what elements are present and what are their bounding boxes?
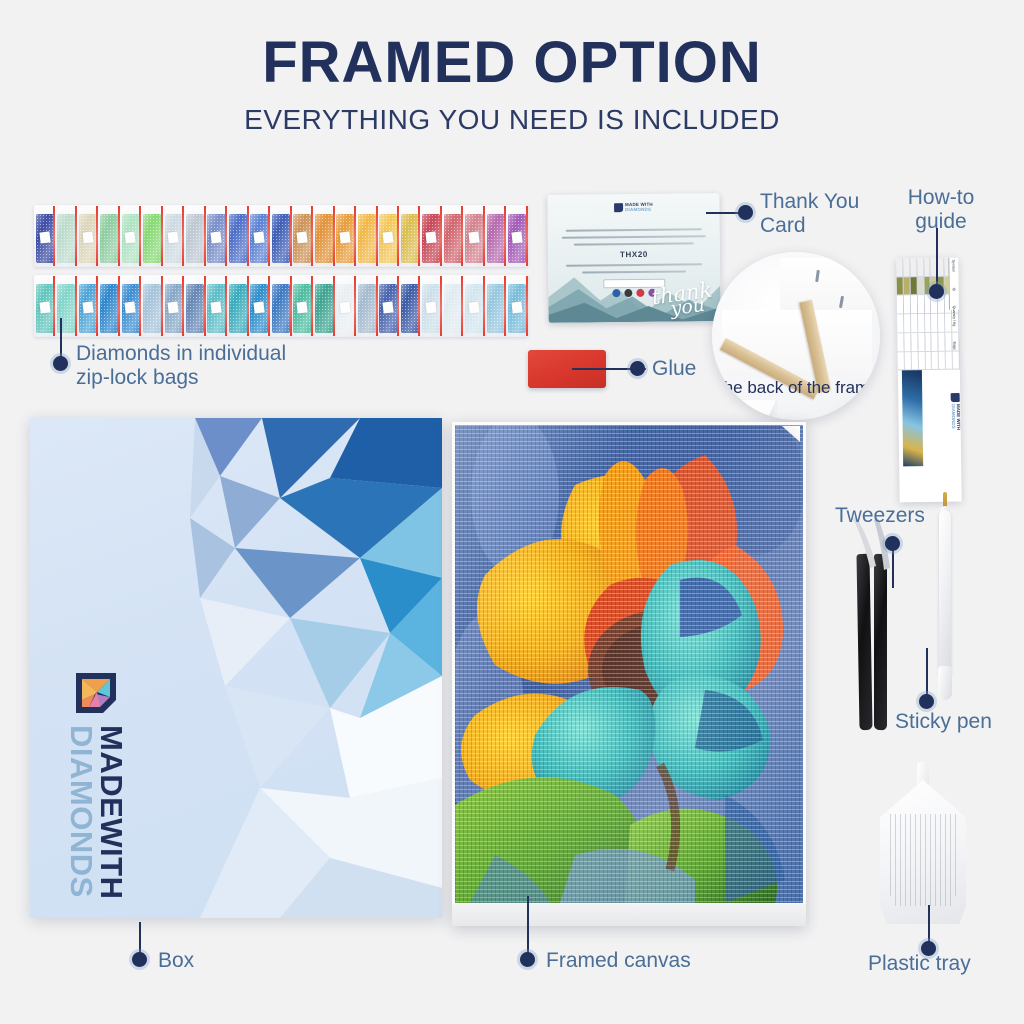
diamond-bag <box>120 205 141 267</box>
diamond-bag <box>227 205 248 267</box>
diamond-bag <box>249 205 270 267</box>
diamond-bag <box>399 275 420 337</box>
bag-sheen <box>270 205 291 267</box>
diamond-bag <box>506 275 527 337</box>
bag-sheen <box>55 205 76 267</box>
pen-body <box>939 510 951 678</box>
bubble-caption: The back of the frame <box>712 378 880 398</box>
bag-sheen <box>120 275 141 337</box>
diamonds-callout-dot[interactable] <box>53 356 68 371</box>
pen-callout-dot[interactable] <box>919 694 934 709</box>
sticky-pen <box>932 492 958 700</box>
diamond-bag <box>313 275 334 337</box>
bag-sheen <box>249 275 270 337</box>
diamond-bag <box>420 275 441 337</box>
box-logo: MADEWITH DIAMONDS <box>67 670 127 899</box>
diamond-bag <box>206 275 227 337</box>
bag-sheen <box>270 275 291 337</box>
canvas-leader-line <box>527 896 529 954</box>
callout-label-framed-canvas: Framed canvas <box>546 949 691 973</box>
bag-sheen <box>313 205 334 267</box>
diamond-bag <box>463 205 484 267</box>
diamond-bag <box>249 275 270 337</box>
callout-label-diamonds: Diamonds in individual zip-lock bags <box>76 342 346 390</box>
bag-sheen <box>77 205 98 267</box>
diamond-bag <box>506 205 527 267</box>
diamond-bag <box>55 275 76 337</box>
diamond-bag <box>292 275 313 337</box>
card-logo: MADE WITH DIAMONDS <box>614 203 653 213</box>
diamond-bag <box>463 275 484 337</box>
bag-sheen <box>163 275 184 337</box>
guide-artwork-thumbnail <box>902 370 923 466</box>
bag-sheen <box>184 205 205 267</box>
card-logo-mark-icon <box>614 203 623 212</box>
diamond-bag <box>184 275 205 337</box>
diamond-bag <box>399 205 420 267</box>
diamond-bag <box>120 275 141 337</box>
diamond-bag <box>442 275 463 337</box>
diamond-bags-group <box>34 205 528 337</box>
frame-back-panel-top <box>780 258 878 314</box>
callout-label-glue: Glue <box>652 357 696 381</box>
bag-sheen <box>506 205 527 267</box>
bag-sheen <box>335 205 356 267</box>
canvas-artwork <box>455 425 803 903</box>
guide-col-qty: Quantity / Kg <box>952 306 956 327</box>
diamond-bag <box>335 275 356 337</box>
diamond-bag <box>98 275 119 337</box>
bag-sheen <box>98 205 119 267</box>
bag-sheen <box>506 275 527 337</box>
box-leader-line <box>139 922 141 954</box>
canvas-callout-dot[interactable] <box>520 952 535 967</box>
bag-sheen <box>335 275 356 337</box>
guide-logo: MADE WITHDIAMONDS <box>950 393 960 430</box>
tweezers-leader-line <box>892 548 894 588</box>
diamond-bag <box>77 205 98 267</box>
pen-foot <box>938 666 952 700</box>
tweezers <box>850 530 906 730</box>
guide-col-symbol: Symbol <box>951 260 955 272</box>
diamond-bag <box>313 205 334 267</box>
diamond-bag <box>163 205 184 267</box>
bag-sheen <box>206 205 227 267</box>
diamond-bag <box>163 275 184 337</box>
bag-sheen <box>227 205 248 267</box>
guide-color-chart: Symbol ID Quantity / Kg Bags <box>896 258 960 371</box>
box-logo-mark-icon <box>73 670 119 716</box>
tiktok-icon <box>624 289 632 297</box>
bag-sheen <box>98 275 119 337</box>
bag-sheen <box>249 205 270 267</box>
infographic-root: FRAMED OPTION EVERYTHING YOU NEED IS INC… <box>0 0 1024 1024</box>
bag-sheen <box>141 275 162 337</box>
box-callout-dot[interactable] <box>132 952 147 967</box>
facebook-icon <box>612 289 620 297</box>
diamond-bag <box>141 205 162 267</box>
diamond-bag <box>141 275 162 337</box>
diamond-bag-row-2 <box>34 275 528 337</box>
bag-sheen <box>292 275 313 337</box>
artwork-sheen <box>455 425 803 903</box>
diamonds-leader-line <box>60 318 62 358</box>
diamond-bag <box>206 205 227 267</box>
card-thank-you-script: thank you <box>651 282 715 320</box>
thankyou-leader-line <box>706 212 742 214</box>
diamond-bag <box>442 205 463 267</box>
diamond-bag <box>55 205 76 267</box>
bag-sheen <box>485 275 506 337</box>
callout-label-box: Box <box>158 949 194 973</box>
bag-sheen <box>463 205 484 267</box>
diamond-bag <box>184 205 205 267</box>
bag-sheen <box>34 275 55 337</box>
box-logo-text: MADEWITH DIAMONDS <box>67 725 127 899</box>
diamond-bag <box>270 275 291 337</box>
bag-sheen <box>420 275 441 337</box>
diamond-bag <box>270 205 291 267</box>
bag-sheen <box>184 275 205 337</box>
bag-sheen <box>163 205 184 267</box>
page-subtitle: EVERYTHING YOU NEED IS INCLUDED <box>0 106 1024 134</box>
bag-sheen <box>356 275 377 337</box>
canvas-frame-bottom-edge <box>452 904 806 926</box>
guide-col-id: ID <box>952 288 956 292</box>
bag-sheen <box>399 205 420 267</box>
bag-sheen <box>420 205 441 267</box>
callout-label-thank-you-card: Thank You Card <box>760 190 900 238</box>
card-social-icons <box>612 289 656 297</box>
diamond-bag <box>356 275 377 337</box>
howto-callout-dot[interactable] <box>929 284 944 299</box>
card-logo-text: MADE WITH DIAMONDS <box>625 203 653 213</box>
bag-sheen <box>206 275 227 337</box>
thank-you-card: MADE WITH DIAMONDS THX20 thank you <box>547 193 720 323</box>
bag-sheen <box>313 275 334 337</box>
bag-sheen <box>141 205 162 267</box>
tweezers-callout-dot[interactable] <box>885 536 900 551</box>
diamond-bag <box>485 205 506 267</box>
bag-sheen <box>485 205 506 267</box>
diamond-bag-row-1 <box>34 205 528 267</box>
glue-callout-dot[interactable] <box>630 361 645 376</box>
thankyou-callout-dot[interactable] <box>738 205 753 220</box>
bag-sheen <box>399 275 420 337</box>
product-box: MADEWITH DIAMONDS <box>30 418 442 918</box>
framed-canvas <box>452 422 806 926</box>
callout-label-tweezers: Tweezers <box>835 504 925 528</box>
bag-sheen <box>356 205 377 267</box>
pen-leader-line <box>926 648 928 698</box>
diamond-bag <box>227 275 248 337</box>
diamond-bag <box>34 205 55 267</box>
bag-sheen <box>34 205 55 267</box>
callout-label-sticky-pen: Sticky pen <box>895 710 992 734</box>
bag-sheen <box>292 205 313 267</box>
diamond-bag <box>98 205 119 267</box>
tray-leader-line <box>928 905 930 943</box>
frame-back-bubble: The back of the frame <box>712 252 880 420</box>
guide-logo-mark-icon <box>950 393 959 402</box>
callout-label-plastic-tray: Plastic tray <box>868 952 971 976</box>
diamond-bag <box>378 275 399 337</box>
diamond-bag <box>335 205 356 267</box>
callout-label-how-to-guide: How-to guide <box>886 186 996 234</box>
diamond-bag <box>420 205 441 267</box>
bag-sheen <box>378 275 399 337</box>
pinterest-icon <box>636 289 644 297</box>
diamond-bag <box>34 275 55 337</box>
bag-sheen <box>55 275 76 337</box>
howto-leader-line <box>936 228 938 288</box>
diamond-bag <box>356 205 377 267</box>
bag-sheen <box>442 205 463 267</box>
bubble-tail-wrap <box>734 400 778 420</box>
diamond-bag <box>485 275 506 337</box>
diamond-bag <box>77 275 98 337</box>
bag-sheen <box>378 205 399 267</box>
tray-ribs <box>890 814 956 906</box>
bag-sheen <box>77 275 98 337</box>
guide-col-bags: Bags <box>952 342 956 350</box>
bag-sheen <box>120 205 141 267</box>
guide-chart-header-strip: Symbol ID Quantity / Kg Bags <box>948 258 959 310</box>
bag-sheen <box>463 275 484 337</box>
diamond-bag <box>378 205 399 267</box>
page-title: FRAMED OPTION <box>0 34 1024 92</box>
diamond-bag <box>292 205 313 267</box>
card-discount-code: THX20 <box>620 250 648 259</box>
bag-sheen <box>442 275 463 337</box>
bubble-tail <box>734 400 776 420</box>
frame-back-panel-left <box>722 310 872 378</box>
bag-sheen <box>227 275 248 337</box>
guide-logo-text: MADE WITHDIAMONDS <box>950 404 960 430</box>
plastic-tray <box>880 762 966 924</box>
